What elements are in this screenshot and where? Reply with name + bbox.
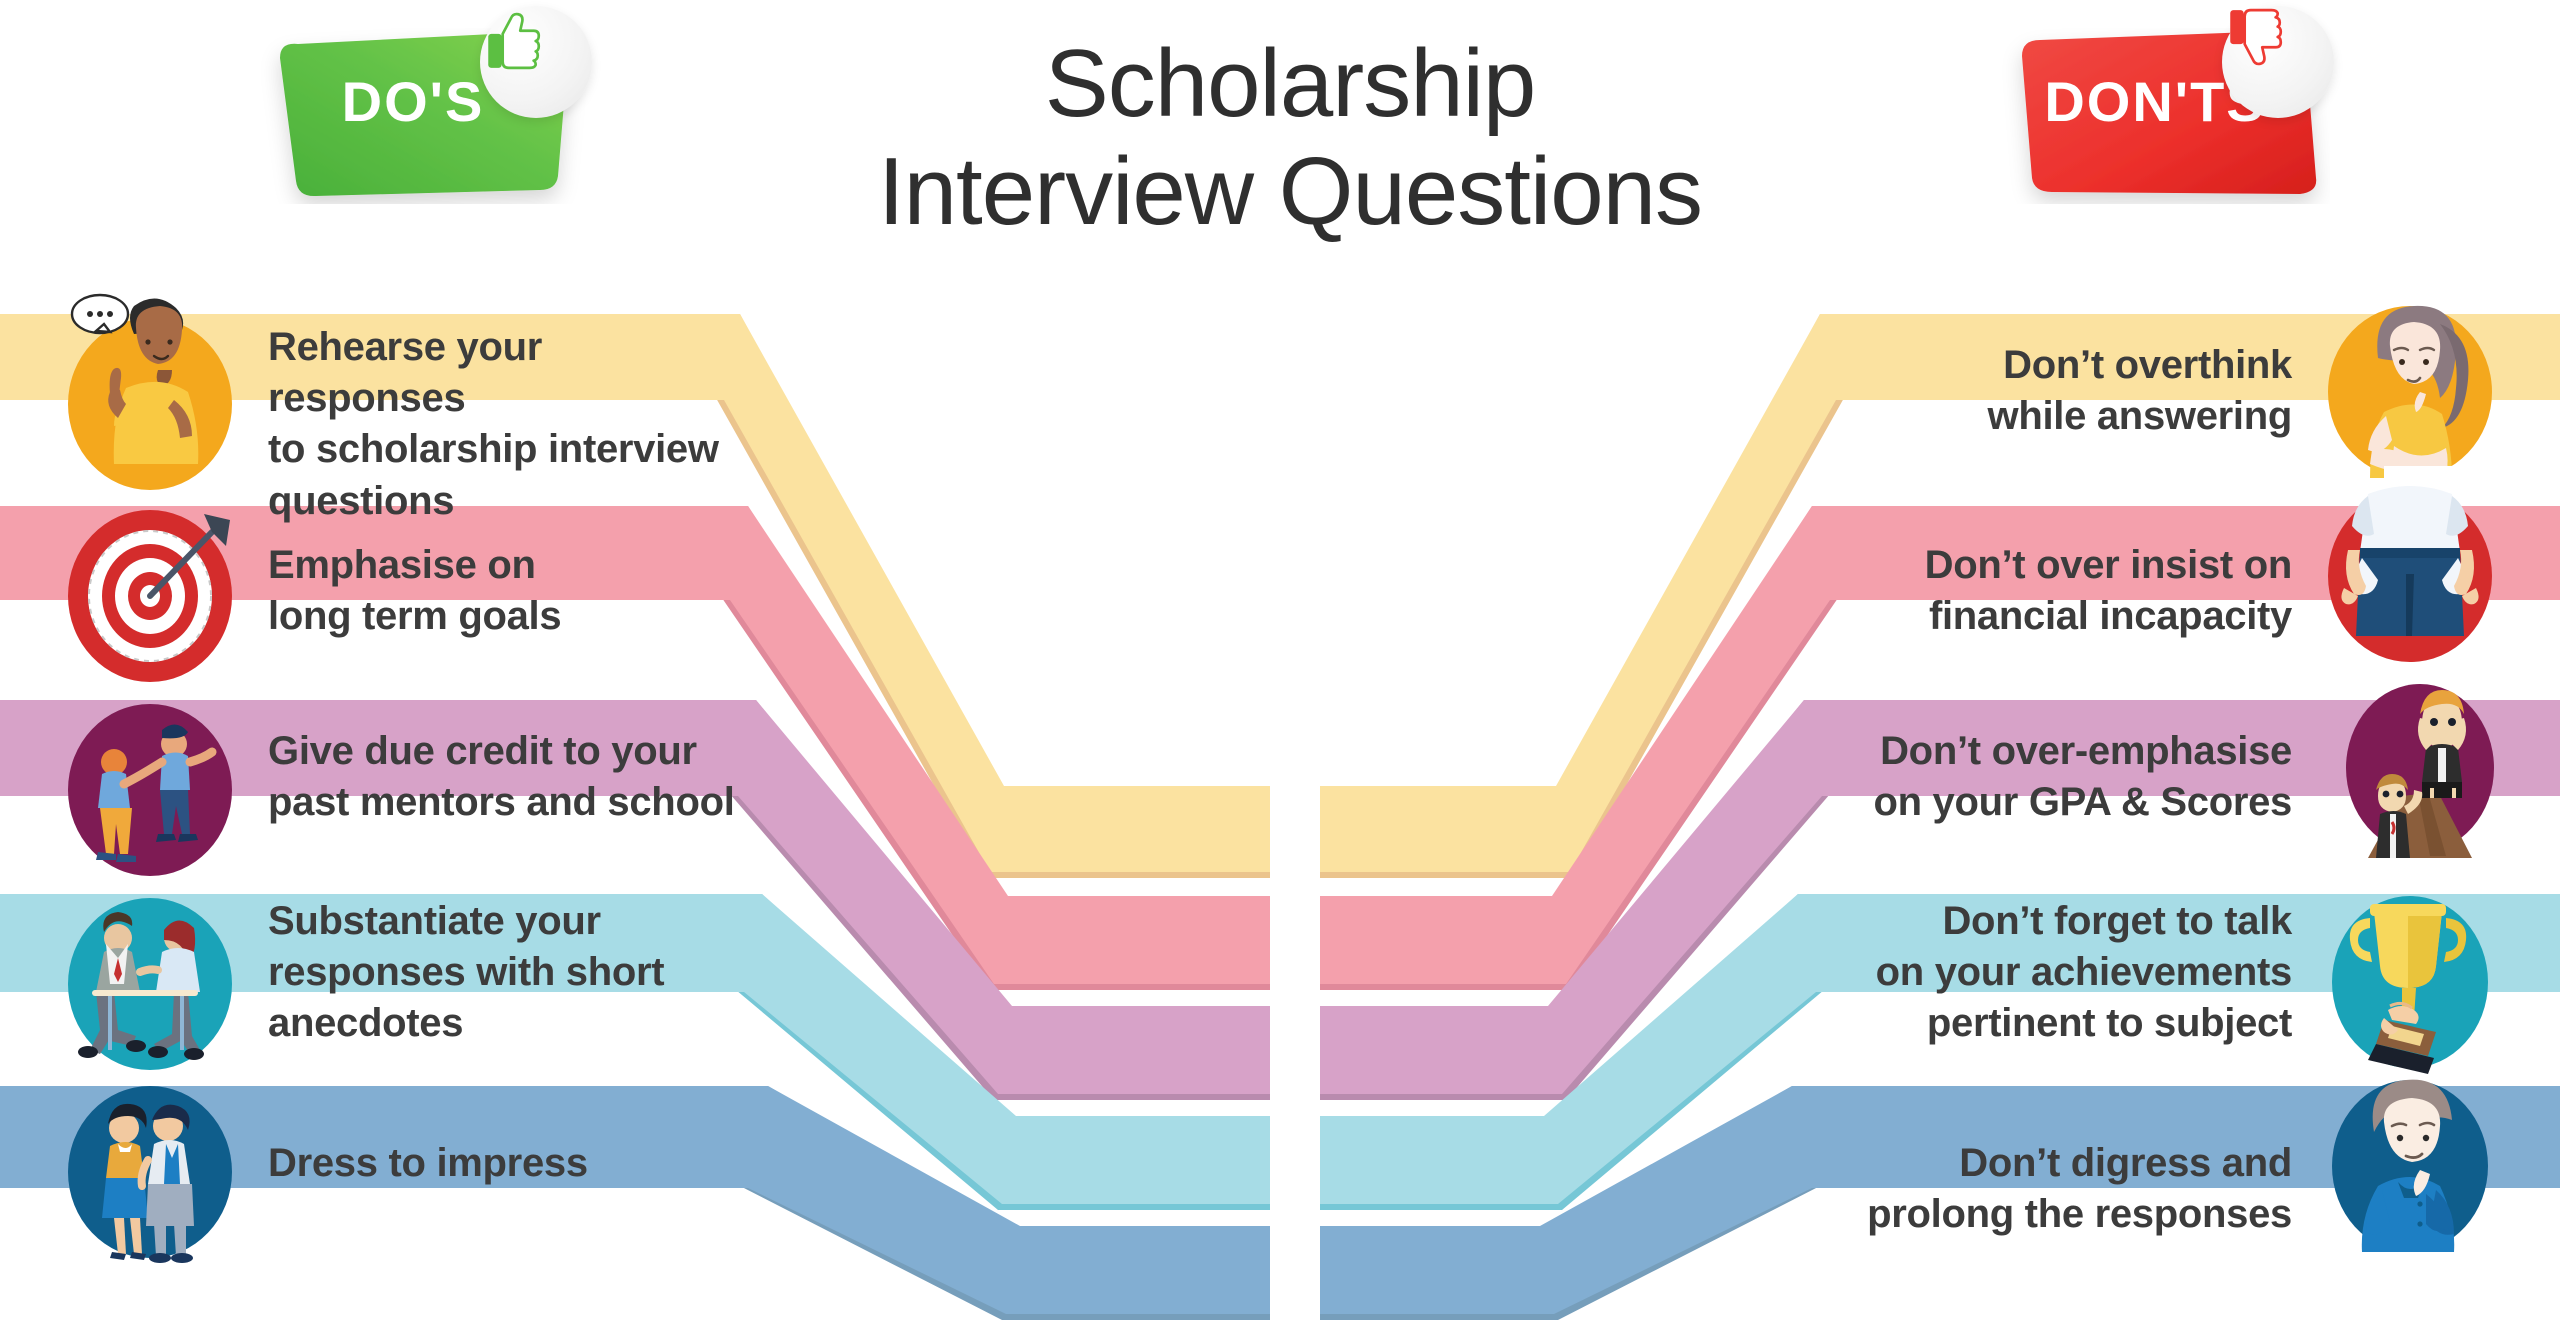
do-item-3-text: Give due credit to your past mentors and… [268, 726, 758, 828]
thumbs-down-icon [2222, 6, 2334, 118]
woman-on-mountain-icon [2322, 680, 2498, 858]
do-item-4-text: Substantiate your responses with short a… [268, 896, 738, 1050]
infographic-canvas: Scholarship Interview Questions DO'S [0, 0, 2560, 1344]
dont-item-4-text: Don’t forget to talk on your achievement… [1772, 896, 2292, 1050]
dont-item-2-text: Don’t over insist on financial incapacit… [1772, 540, 2292, 642]
thumbs-up-icon [480, 6, 592, 118]
dos-badge-label: DO'S [342, 69, 485, 134]
dont-item-3-text: Don’t over-emphasise on your GPA & Score… [1772, 726, 2292, 828]
dressed-couple-icon [62, 1086, 238, 1264]
donts-badge: DON'TS [2000, 28, 2310, 178]
title-line-1: Scholarship [760, 30, 1820, 138]
page-title: Scholarship Interview Questions [760, 30, 1820, 245]
do-item-1-text: Rehearse your responses to scholarship i… [268, 322, 738, 527]
target-arrow-icon [62, 506, 238, 684]
do-item-2-text: Emphasise on long term goals [268, 540, 738, 642]
trophy-icon [2322, 894, 2498, 1072]
do-item-5-text: Dress to impress [268, 1138, 738, 1189]
person-pointing-up-icon [62, 312, 238, 490]
man-thinking-icon [2322, 1074, 2498, 1252]
title-line-2: Interview Questions [760, 138, 1820, 246]
dos-badge: DO'S [258, 28, 568, 178]
woman-thinking-icon [2322, 300, 2498, 478]
handshake-mentor-icon [62, 700, 238, 878]
dont-item-5-text: Don’t digress and prolong the responses [1772, 1138, 2292, 1240]
dont-item-1-text: Don’t overthink while answering [1772, 340, 2292, 442]
interview-table-icon [62, 894, 238, 1072]
empty-pockets-icon [2322, 484, 2498, 662]
